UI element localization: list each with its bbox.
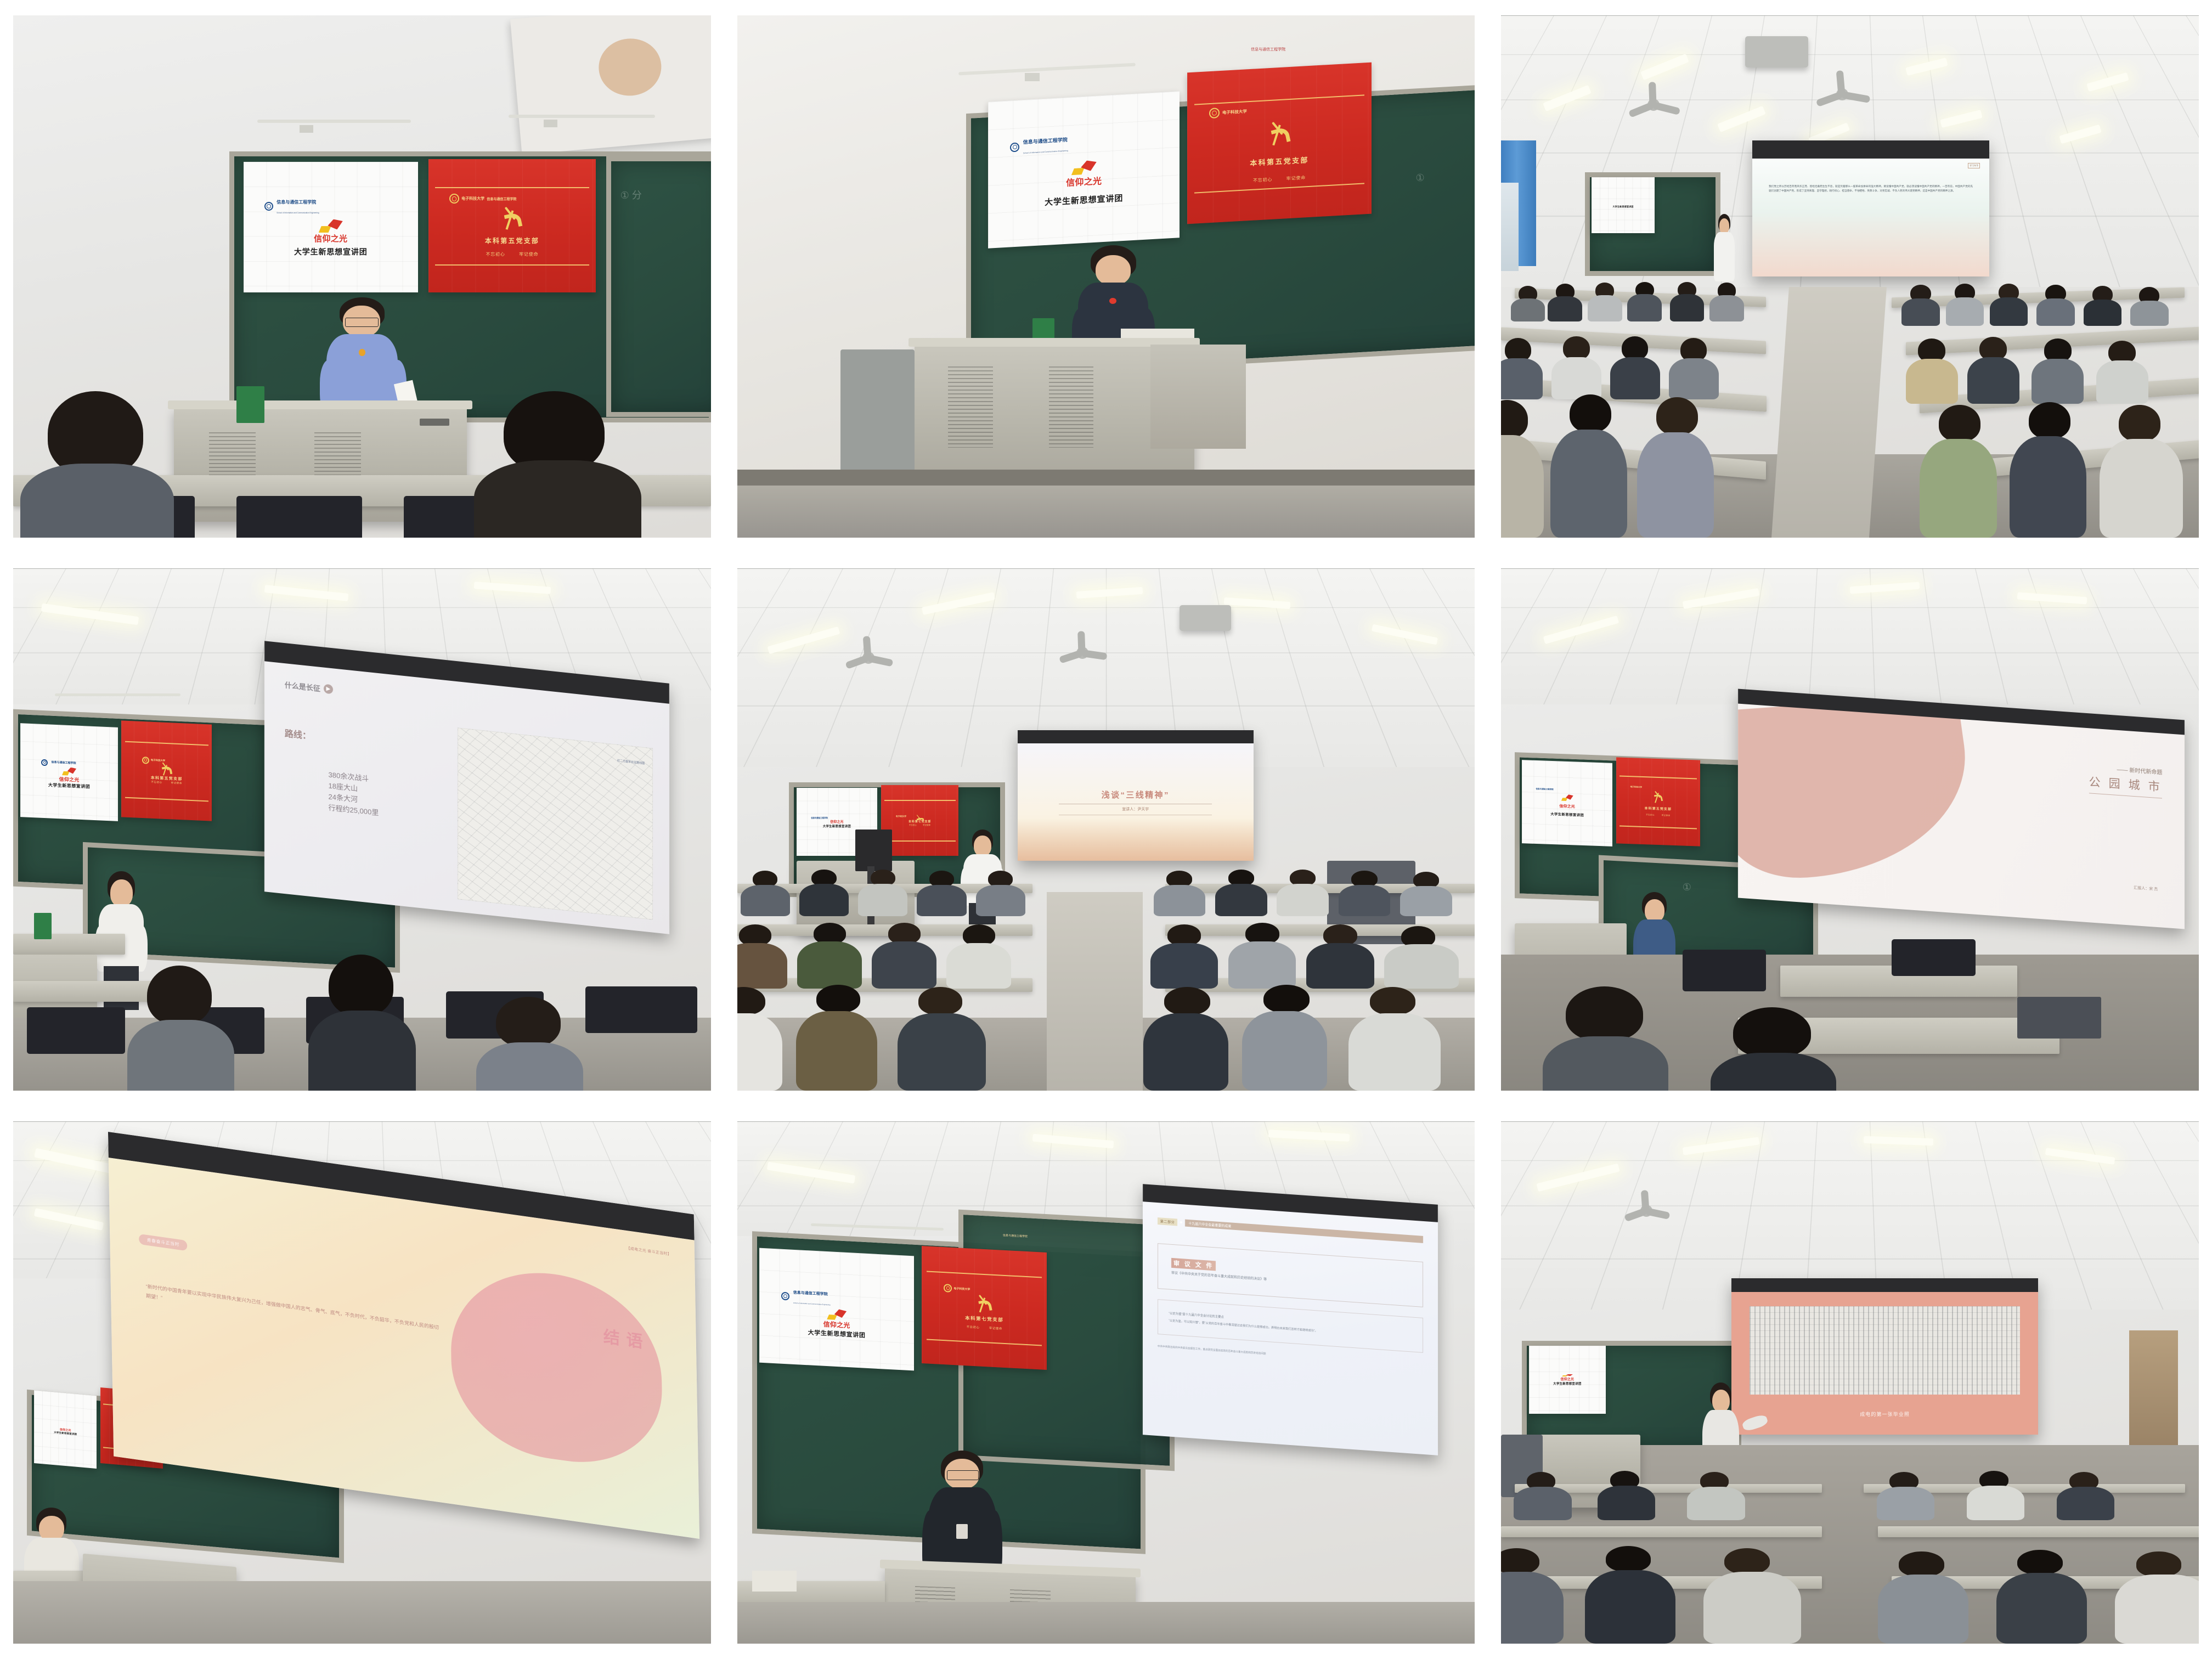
map-caption: 红二方面军长征路线图 (617, 759, 645, 765)
audience-head (1711, 1007, 1836, 1091)
audience-row (1150, 866, 1475, 924)
ribbon-graphic (449, 1260, 663, 1475)
hammer-sickle-icon (1652, 793, 1663, 804)
collage-cell-3[interactable]: 大学生新思想宣讲团 学习年华 我们党之所以历经百年而风华正茂、饱经沧桑而生生不息… (1488, 0, 2212, 553)
slide-content: 第二部分 十九届六中全会最重要的成果 审 议 文 件 审议《中共中央关于党的百年… (1143, 1201, 1438, 1455)
motto-right: 牢记使命 (923, 823, 930, 826)
audience-row-front (1501, 1544, 1822, 1644)
institute-name: 信息与通信工程学院 (51, 761, 76, 765)
university-name: 电子科技大学 (1222, 109, 1247, 116)
university-seal-icon (1209, 108, 1220, 119)
slide-block-title: 审 议 文 件 (1171, 1258, 1216, 1271)
motto-right: 牢记使命 (519, 251, 538, 257)
ceiling-fan-icon (1640, 1205, 1652, 1217)
xinyangzhiguang-logo-icon (319, 218, 343, 233)
photo-panel-8[interactable]: 信息与通信工程学院 School of Information and Comm… (737, 1121, 1475, 1644)
white-banner: 信息与通信工程学院 信仰之光 大学生新思想宣讲团 (1522, 760, 1612, 847)
institute-name: 信息与通信工程学院 (276, 200, 316, 205)
photo-panel-4[interactable]: 信息与通信工程学院 信仰之光 大学生新思想宣讲团 电子科技大学 本科第五党支部 … (13, 568, 711, 1091)
ceiling-projector (1745, 36, 1808, 67)
audience-head-right (474, 391, 641, 538)
institute-name: 信息与通信工程学院 (1536, 788, 1554, 791)
motto-left: 不忘初心 (909, 823, 917, 826)
hammer-sickle-icon (1268, 124, 1291, 146)
university-name: 电子科技大学 (953, 1286, 970, 1291)
audience-head (125, 966, 237, 1091)
door[interactable] (2129, 1330, 2178, 1445)
bullet-icon (1180, 1222, 1182, 1224)
ceiling-fan-icon (1076, 647, 1088, 659)
slide-corner-tag: 【成电之光 奋斗正当时】 (627, 1246, 672, 1258)
red-party-banner: 电子科技大学 本科第五党支部 不忘初心 牢记使命 (1187, 63, 1372, 224)
audience-row-front (1501, 391, 1794, 538)
red-party-banner: 电子科技大学 本科第五党支部 不忘初心 牢记使命 (1616, 758, 1700, 847)
red-party-banner: 电子科技大学 本科第七党支部 不忘初心 牢记使命 (881, 785, 958, 856)
audience-row (1864, 1466, 2185, 1526)
university-name: 电子科技大学 (151, 759, 165, 763)
collage-cell-6[interactable]: ① 信息与通信工程学院 信仰之光 大学生新思想宣讲团 电子科技大学 本科第五党支… (1488, 553, 2212, 1106)
white-banner: 信息与通信工程学院 School of Information and Comm… (988, 91, 1180, 248)
collage-cell-1[interactable]: ① 分 信息与通信工程学院 School of Information and … (0, 0, 724, 553)
slide-title: 公 园 城 市 (2089, 773, 2163, 794)
white-banner: 信息与通信工程学院 School of Information and Comm… (244, 162, 418, 292)
party-branch-name: 本科第七党支部 (965, 1315, 1003, 1324)
white-banner: 信息与通信工程学院 信仰之光 大学生新思想宣讲团 (20, 723, 118, 821)
motto-right: 牢记使命 (1286, 174, 1306, 182)
motto-left: 不忘初心 (1646, 814, 1655, 817)
banner-main-text: 大学生新思想宣讲团 (808, 1328, 866, 1340)
hammer-sickle-icon (915, 817, 925, 820)
skyline-graphic (1018, 819, 1254, 861)
photo-panel-2[interactable]: ① 信息与通信工程学院 School of Information and Co… (737, 15, 1475, 538)
institute-seal-icon (1010, 142, 1019, 152)
glasses-icon (947, 1470, 979, 1480)
slide-content: 学习年华 我们党之所以历经百年而风华正茂、饱经沧桑而生生不息，就是凭着那么一股革… (1752, 159, 1989, 276)
audience-row (1501, 1466, 1822, 1526)
institute-seal-icon (782, 1291, 790, 1300)
audience-row-front (737, 983, 1047, 1090)
audience-head (1543, 986, 1668, 1091)
hammer-sickle-icon (501, 210, 523, 230)
collage-cell-2[interactable]: ① 信息与通信工程学院 School of Information and Co… (724, 0, 1488, 553)
banner-main-text: 大学生新思想宣讲团 (1553, 1381, 1581, 1386)
photo-panel-5[interactable]: 信息与通信工程学院 信仰之光 大学生新思想宣讲团 电子科技大学 本科第七党支部 … (737, 568, 1475, 1091)
motto-right: 牢记使命 (1662, 815, 1671, 818)
photo-panel-7[interactable]: 信仰之光 大学生新思想宣讲团 信息与通信工程学院 本科第五党支部 不忘初心 牢记… (13, 1121, 711, 1644)
presenter-name: 尹天宇 (1137, 808, 1149, 811)
banner-main-text: 大学生新思想宣讲团 (1045, 192, 1123, 208)
audience-row (1508, 276, 1773, 329)
banner-main-text: 大学生新思想宣讲团 (1550, 812, 1584, 818)
logo-text: 信仰之光 (314, 233, 347, 244)
white-banner: 信仰之光 大学生新思想宣讲团 (1529, 1346, 1606, 1414)
slide-content: 什么是长征 ▶ 路线： 380余次战斗 18座大山 24条大河 行程约25,00… (264, 661, 669, 934)
institute-row: 信息与通信工程学院 (41, 759, 76, 767)
audience-head-left (20, 391, 174, 538)
slide-content: —— 新时代新命题 公 园 城 市 汇报人：宋 杰 (1738, 703, 2185, 929)
university-name: 电子科技大学 (1630, 786, 1642, 789)
xinyangzhiguang-logo-icon (1561, 794, 1573, 802)
white-banner: 信仰之光 大学生新思想宣讲团 (34, 1390, 97, 1469)
speaker-figure (1711, 214, 1739, 282)
party-branch-name: 本科第五党支部 (485, 236, 539, 245)
red-banner-top-row: 电子科技大学 (944, 1284, 970, 1294)
white-banner: 大学生新思想宣讲团 (1592, 177, 1654, 233)
university-seal-icon (449, 194, 459, 204)
university-seal-icon (142, 756, 149, 764)
projection-screen: 学习年华 我们党之所以历经百年而风华正茂、饱经沧桑而生生不息，就是凭着那么一股革… (1752, 140, 1989, 276)
ribbon-graphic (1738, 703, 1981, 883)
red-party-banner: 电子科技大学 本科第七党支部 不忘初心 牢记使命 (922, 1246, 1047, 1370)
projection-screen: 浅谈“三线精神” 宣讲人：尹天宇 (1018, 730, 1254, 861)
banner-main-text: 大学生新思想宣讲团 (823, 824, 851, 828)
white-banner: 信息与通信工程学院 School of Information and Comm… (759, 1248, 914, 1371)
chevron-right-icon: ▶ (324, 684, 333, 695)
motto-left: 不忘初心 (967, 1324, 980, 1329)
ceiling-projector (1180, 605, 1231, 631)
presenter-label: 宣讲人： (1122, 808, 1137, 811)
slide-content: 浅谈“三线精神” 宣讲人：尹天宇 (1018, 743, 1254, 861)
xinyangzhiguang-logo-icon (62, 766, 76, 776)
photo-collage: ① 分 信息与通信工程学院 School of Information and … (0, 0, 2212, 1659)
party-branch-name: 本科第五党支部 (1250, 154, 1308, 168)
logo-text: 信仰之光 (1066, 173, 1102, 189)
collage-cell-7[interactable]: 信仰之光 大学生新思想宣讲团 信息与通信工程学院 本科第五党支部 不忘初心 牢记… (0, 1106, 724, 1659)
projection-screen: —— 新时代新命题 公 园 城 市 汇报人：宋 杰 (1738, 689, 2185, 929)
photo-panel-3[interactable]: 大学生新思想宣讲团 学习年华 我们党之所以历经百年而风华正茂、饱经沧桑而生生不息… (1501, 15, 2199, 538)
slide-section-title: 十九届六中全会最重要的成果 (1185, 1220, 1423, 1243)
banner-main-text: 大学生新思想宣讲团 (48, 782, 90, 789)
projection-screen: 成电的第一张毕业照 (1731, 1278, 2039, 1435)
school-name: 信息与通信工程学院 (1187, 47, 1350, 67)
institute-seal-icon (41, 759, 48, 766)
projection-screen: 第二部分 十九届六中全会最重要的成果 审 议 文 件 审议《中共中央关于党的百年… (1143, 1184, 1438, 1455)
banner-main-text: 大学生新思想宣讲团 (1613, 205, 1634, 208)
photo-panel-1[interactable]: ① 分 信息与通信工程学院 School of Information and … (13, 15, 711, 538)
red-banner-top-row: 电子科技大学 信息与通信工程学院 (449, 194, 516, 204)
institute-row: 信息与通信工程学院 School of Information and Comm… (1010, 134, 1068, 157)
long-march-map-image: 红二方面军长征路线图 (458, 727, 653, 920)
slide-corner-stamp: 学习年华 (1968, 163, 1980, 168)
audience-row (1899, 276, 2192, 334)
logo-text: 信仰之光 (1561, 1376, 1574, 1381)
presenter-name: 宋 杰 (2149, 887, 2158, 891)
slide-quote: “新时代的中国青年要以实现中华民族伟大复兴为己任，增强做中国人的志气、骨气、底气… (146, 1282, 439, 1341)
collage-cell-8[interactable]: 信息与通信工程学院 School of Information and Comm… (724, 1106, 1488, 1659)
logo-text: 信仰之光 (59, 775, 79, 783)
university-name: 电子科技大学 (461, 196, 484, 201)
institute-row: 信息与通信工程学院 School of Information and Comm… (782, 1286, 831, 1308)
slide-heading: 什么是长征 (285, 680, 320, 694)
institute-name-en: School of Information and Communication … (1023, 149, 1068, 154)
logo-text: 信仰之光 (1560, 804, 1576, 810)
presenter-label: 汇报人： (2134, 886, 2149, 891)
slide-line-1: 审议《中共中央关于党的百年奋斗重大成就和历史经验的决议》等 (1171, 1271, 1409, 1293)
motto-left: 不忘初心 (1253, 177, 1272, 184)
ceiling-fan-icon (862, 652, 874, 664)
red-party-banner: 电子科技大学 信息与通信工程学院 本科第五党支部 不忘初心 牢记使命 (428, 159, 596, 292)
institute-name-en: School of Information and Communication … (276, 212, 319, 214)
motto-left: 不忘初心 (486, 251, 505, 257)
motto-left: 不忘初心 (151, 780, 162, 784)
red-banner-top-row: 电子科技大学 (1209, 106, 1247, 119)
xinyangzhiguang-logo-icon (827, 1308, 847, 1321)
party-branch-name: 本科第五党支部 (1644, 806, 1672, 812)
slide-content: 成电的第一张毕业照 (1731, 1292, 2039, 1435)
projection-screen: 什么是长征 ▶ 路线： 380余次战斗 18座大山 24条大河 行程约25,00… (264, 641, 669, 934)
institute-name: 信息与通信工程学院 (811, 817, 828, 819)
audience-row-front (1878, 1548, 2199, 1644)
slide-title: 浅谈“三线精神” (1102, 789, 1170, 800)
university-seal-icon (944, 1284, 952, 1293)
audience-head (474, 997, 586, 1091)
photo-panel-6[interactable]: ① 信息与通信工程学院 信仰之光 大学生新思想宣讲团 电子科技大学 本科第五党支… (1501, 568, 2199, 1091)
desk-paper (752, 1571, 797, 1592)
logo-text: 信仰之光 (830, 819, 843, 824)
desk-item (34, 913, 52, 939)
motto-right: 牢记使命 (989, 1326, 1002, 1331)
camera-on-tripod (855, 830, 892, 871)
institute-name-en: School of Information and Communication … (793, 1302, 831, 1306)
hammer-sickle-icon (976, 1297, 992, 1313)
banner-main-text: 大学生新思想宣讲团 (294, 246, 368, 257)
red-party-banner: 电子科技大学 本科第五党支部 不忘初心 牢记使命 (121, 720, 212, 821)
slide-body-text: 我们党之所以历经百年而风华正茂、饱经沧桑而生生不息，就是凭着那么一股革命加拼命的… (1769, 184, 1973, 193)
audience-row-front (1150, 983, 1475, 1090)
chalk-marks: ① 分 (620, 188, 642, 202)
slide-section-tag: 第二部分 (1158, 1217, 1177, 1226)
desk-item (236, 386, 264, 423)
slide-section-pill: 青春奋斗正当时 (139, 1234, 188, 1251)
motto-right: 牢记使命 (171, 781, 182, 785)
collage-cell-5[interactable]: 信息与通信工程学院 信仰之光 大学生新思想宣讲团 电子科技大学 本科第七党支部 … (724, 553, 1488, 1106)
collage-cell-9[interactable]: 信仰之光 大学生新思想宣讲团 成电的第一张毕业照 (1488, 1106, 2212, 1659)
banner-main-text: 大学生新思想宣讲团 (54, 1431, 77, 1436)
photo-panel-9[interactable]: 信仰之光 大学生新思想宣讲团 成电的第一张毕业照 (1501, 1121, 2199, 1644)
backpack (2017, 997, 2101, 1039)
audience-row (737, 866, 1047, 924)
glasses-icon (345, 318, 379, 327)
institute-name: 信息与通信工程学院 (793, 1291, 828, 1296)
slide-caption: 成电的第一张毕业照 (1731, 1410, 2039, 1418)
xinyangzhiguang-logo-icon (1071, 159, 1097, 176)
hammer-sickle-icon (160, 764, 173, 776)
school-name: 信息与通信工程学院 (487, 196, 516, 201)
collage-cell-4[interactable]: 信息与通信工程学院 信仰之光 大学生新思想宣讲团 电子科技大学 本科第五党支部 … (0, 553, 724, 1106)
ceiling-fan-icon (1836, 88, 1848, 100)
side-cabinet (1150, 345, 1246, 449)
xinyangzhiguang-logo-icon (1562, 1374, 1573, 1376)
audience-row-front (1920, 397, 2199, 538)
chair (840, 349, 914, 486)
institute-row: 信息与通信工程学院 School of Information and Comm… (264, 196, 319, 216)
audience-head (306, 955, 418, 1091)
ceiling-fan-icon (1647, 99, 1660, 111)
institute-seal-icon (264, 202, 273, 211)
historic-photo-image (1750, 1306, 2020, 1395)
institute-name: 信息与通信工程学院 (1023, 137, 1068, 145)
university-name: 电子科技大学 (896, 815, 906, 817)
